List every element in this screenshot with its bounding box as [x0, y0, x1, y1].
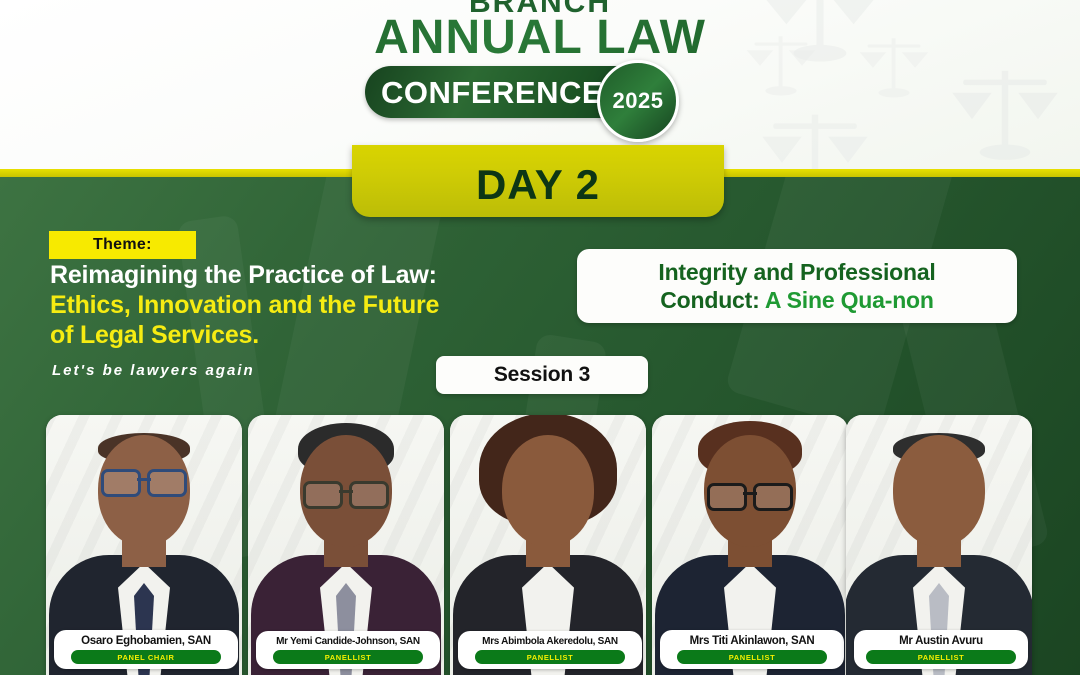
speaker-role-badge: PANELLIST [475, 650, 625, 664]
speaker-role-badge: PANELLIST [273, 650, 423, 664]
speaker-name-box: Mrs Abimbola Akeredolu, SANPANELLIST [458, 631, 642, 669]
speaker-name-box: Osaro Eghobamien, SANPANEL CHAIR [54, 630, 238, 669]
speaker-name: Osaro Eghobamien, SAN [56, 635, 236, 647]
speaker-role-badge: PANEL CHAIR [71, 650, 221, 664]
speaker-role-badge: PANELLIST [866, 650, 1016, 664]
portrait-head [502, 435, 594, 547]
speaker-role-label: PANELLIST [325, 653, 372, 662]
speaker-name-box: Mr Yemi Candide-Johnson, SANPANELLIST [256, 631, 440, 669]
portrait-head [893, 435, 985, 547]
speaker-card[interactable]: Osaro Eghobamien, SANPANEL CHAIR [46, 415, 242, 675]
speaker-role-label: PANELLIST [918, 653, 965, 662]
speaker-role-label: PANEL CHAIR [117, 653, 174, 662]
conference-poster: BRANCH ANNUAL LAW CONFERENCE 2025 DAY 2 … [0, 0, 1080, 675]
speaker-role-label: PANELLIST [729, 653, 776, 662]
speaker-name: Mrs Titi Akinlawon, SAN [662, 635, 842, 647]
speaker-card-list: Osaro Eghobamien, SANPANEL CHAIRMr Yemi … [0, 0, 1080, 675]
speaker-card[interactable]: Mrs Titi Akinlawon, SANPANELLIST [652, 415, 848, 675]
portrait-glasses-icon [707, 483, 793, 505]
speaker-name: Mr Yemi Candide-Johnson, SAN [258, 636, 438, 647]
speaker-role-label: PANELLIST [527, 653, 574, 662]
speaker-name: Mr Austin Avuru [856, 635, 1026, 647]
portrait-glasses-icon [303, 481, 389, 503]
speaker-name-box: Mrs Titi Akinlawon, SANPANELLIST [660, 630, 844, 669]
speaker-name: Mrs Abimbola Akeredolu, SAN [460, 636, 640, 647]
speaker-card[interactable]: Mr Austin AvuruPANELLIST [846, 415, 1032, 675]
speaker-name-box: Mr Austin AvuruPANELLIST [854, 630, 1028, 669]
speaker-role-badge: PANELLIST [677, 650, 827, 664]
portrait-glasses-icon [101, 469, 187, 491]
speaker-card[interactable]: Mr Yemi Candide-Johnson, SANPANELLIST [248, 415, 444, 675]
speaker-card[interactable]: Mrs Abimbola Akeredolu, SANPANELLIST [450, 415, 646, 675]
